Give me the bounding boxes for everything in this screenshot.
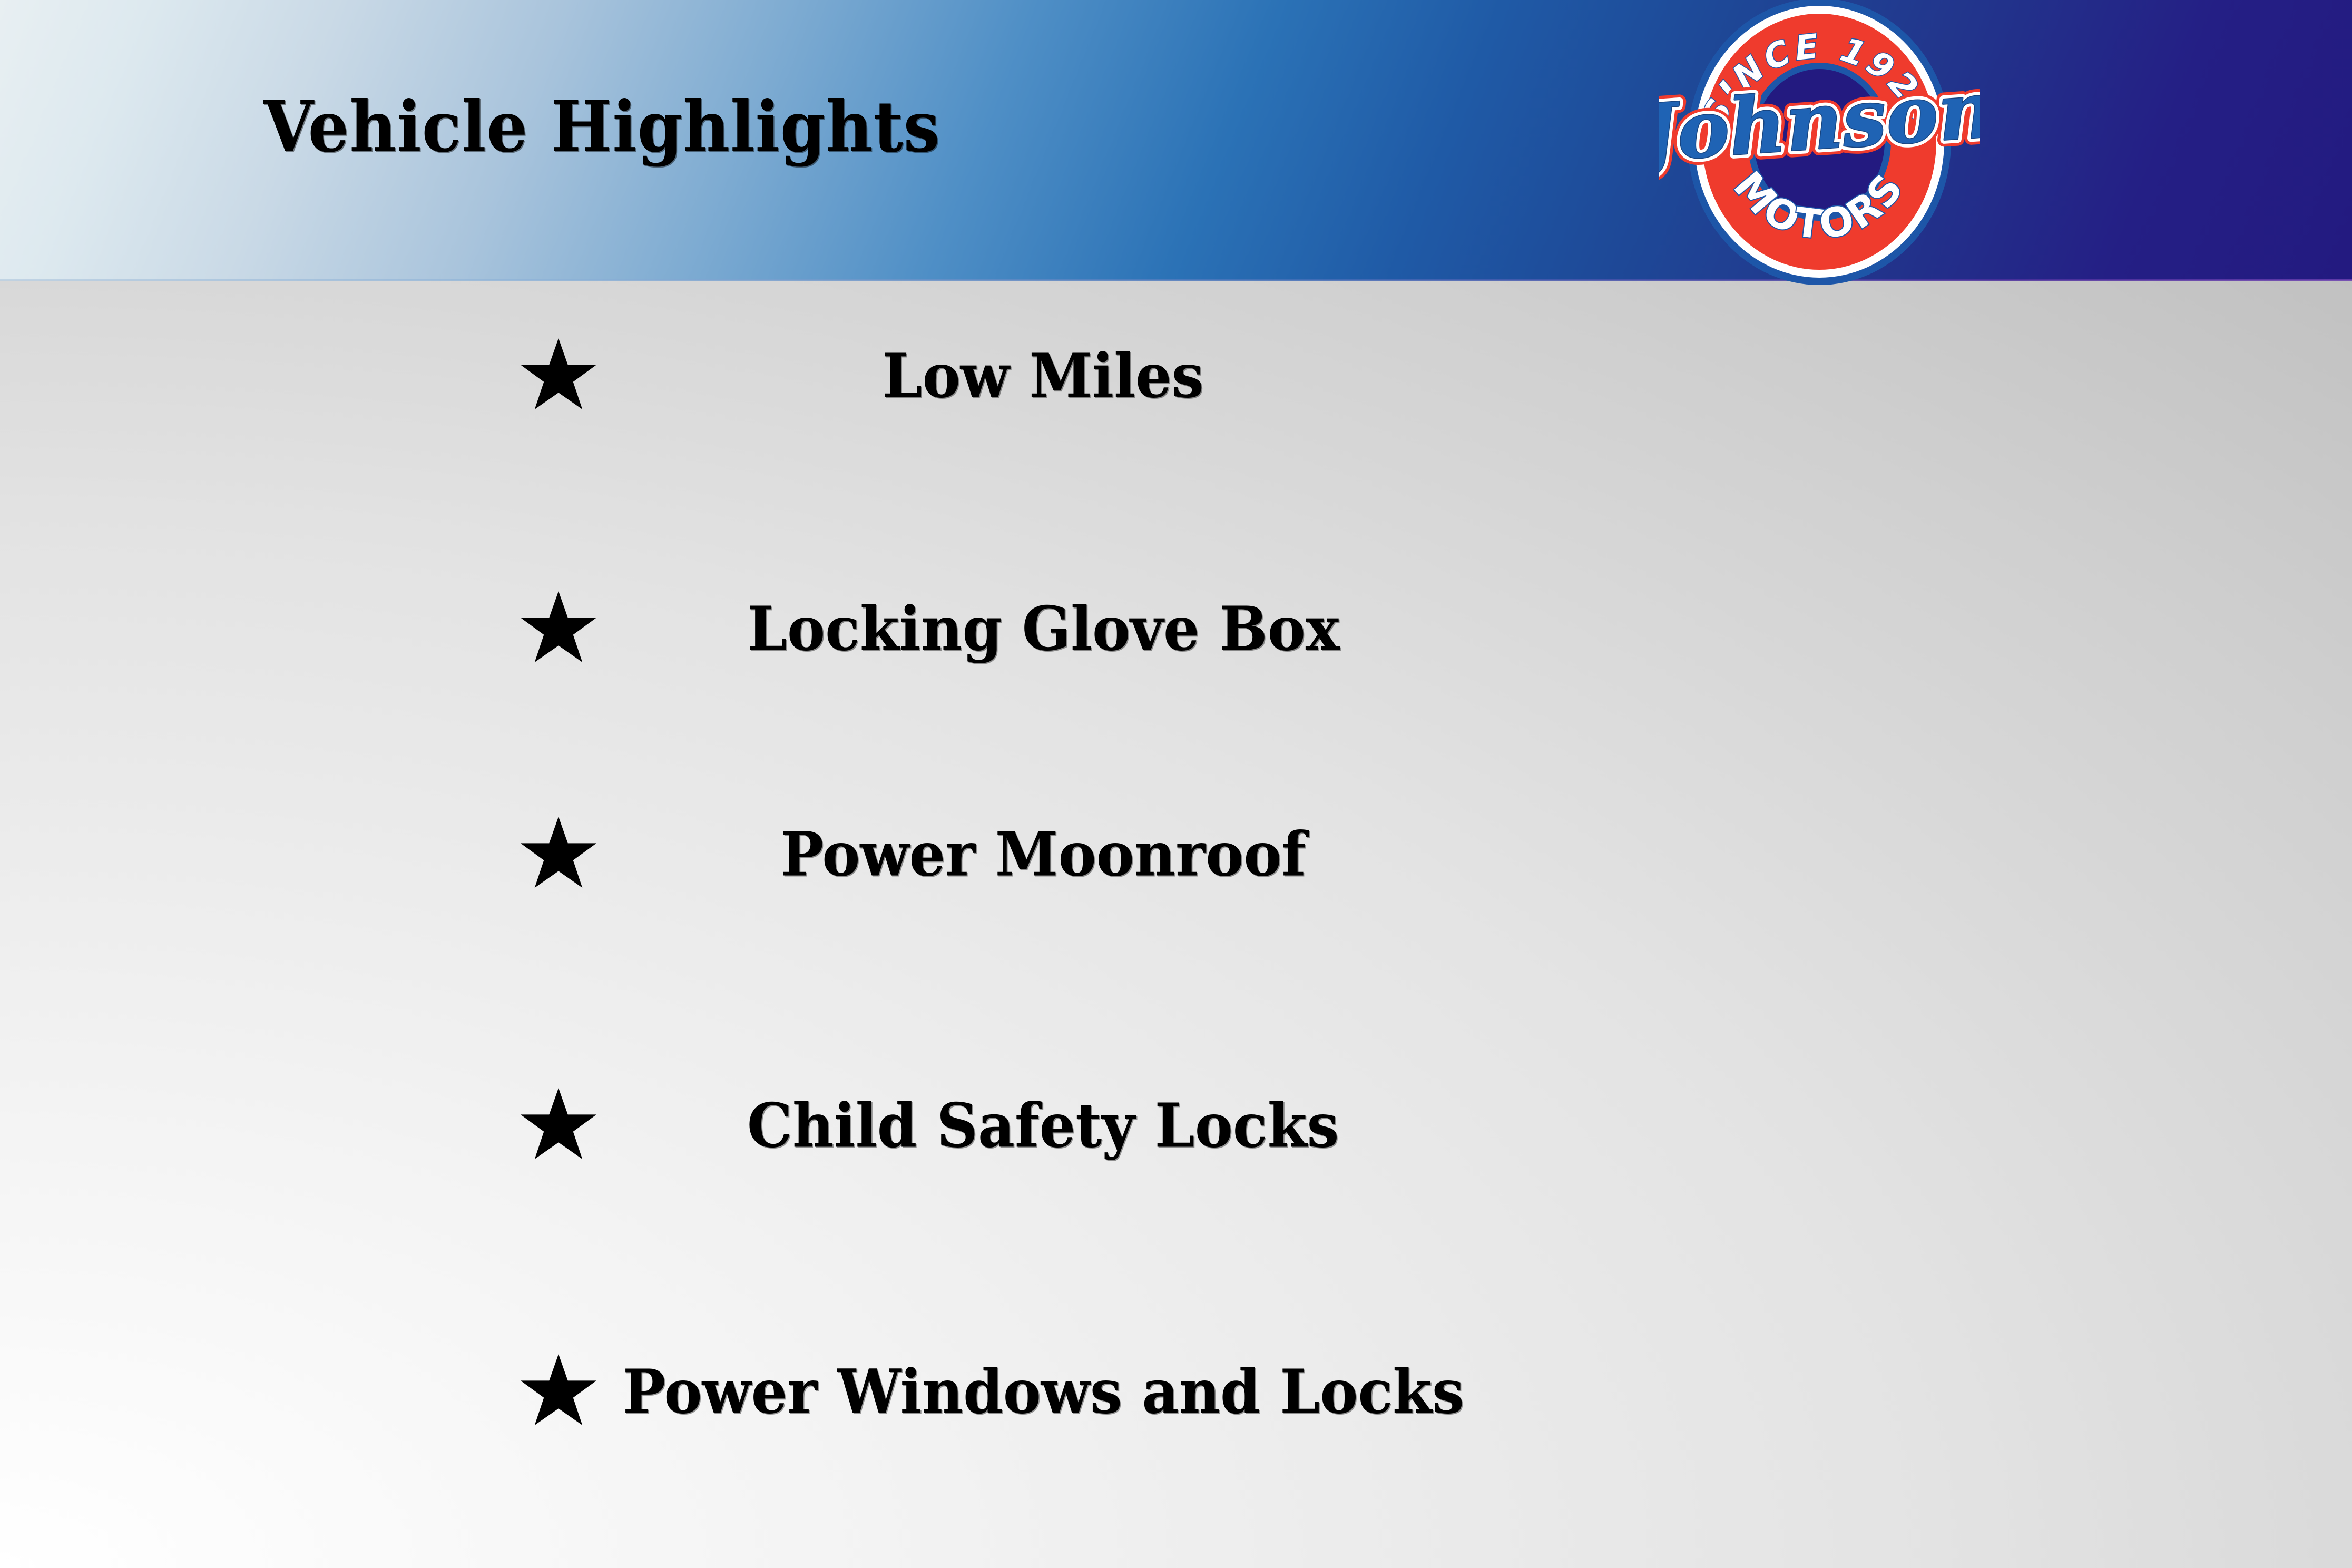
johnson-motors-logo: SINCE 1925 MOTORS Johnson Johnson Johnso… bbox=[1659, 0, 1980, 302]
highlight-label-wrapper: Power Moonroof bbox=[0, 825, 2352, 885]
highlight-label: Low Miles bbox=[883, 346, 1204, 407]
highlight-item: Power Moonroof bbox=[0, 802, 2352, 907]
highlight-label-wrapper: Locking Glove Box bbox=[0, 599, 2352, 660]
highlight-label-wrapper: Low Miles bbox=[0, 346, 2352, 407]
highlight-label: Child Safety Locks bbox=[747, 1096, 1339, 1157]
highlight-label: Power Windows and Locks bbox=[623, 1362, 1464, 1423]
highlight-label-wrapper: Child Safety Locks bbox=[0, 1096, 2352, 1157]
slide-canvas: Vehicle Highlights SINCE 1925 bbox=[0, 0, 2352, 1568]
highlight-label-wrapper: Power Windows and Locks bbox=[0, 1362, 2352, 1423]
highlight-label: Locking Glove Box bbox=[747, 599, 1339, 660]
highlight-label: Power Moonroof bbox=[781, 825, 1306, 885]
highlight-item: Locking Glove Box bbox=[0, 576, 2352, 682]
highlight-item: Low Miles bbox=[0, 324, 2352, 429]
highlight-item: Power Windows and Locks bbox=[0, 1339, 2352, 1445]
page-title: Vehicle Highlights bbox=[263, 92, 940, 162]
highlight-item: Child Safety Locks bbox=[0, 1073, 2352, 1179]
highlights-list: Low Miles Locking Glove Box Power Moonro… bbox=[0, 280, 2352, 1568]
